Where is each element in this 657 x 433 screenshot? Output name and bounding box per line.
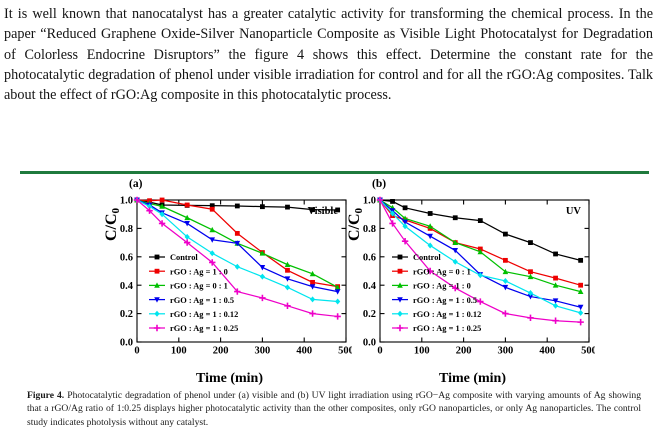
x-tick-label: 300	[498, 346, 514, 357]
series-marker	[428, 211, 433, 216]
series-marker	[528, 240, 533, 245]
series-marker	[310, 207, 315, 212]
y-tick-label: 0.2	[120, 309, 133, 320]
series-marker	[285, 205, 290, 210]
chart-panel-b: (b) C/C0 01002003004005000.00.20.40.60.8…	[350, 178, 650, 390]
question-block: It is well known that nanocatalyst has a…	[4, 4, 653, 105]
series-marker	[403, 205, 408, 210]
y-tick-label: 0.6	[363, 252, 376, 263]
legend-label: rGO : Ag = 1 : 0.5	[413, 296, 477, 305]
series-marker	[235, 231, 240, 236]
x-tick-label: 0	[134, 346, 139, 357]
chart-svg-b: 01002003004005000.00.20.40.60.81.0UVCont…	[350, 193, 595, 368]
series-marker	[260, 204, 265, 209]
series-marker	[578, 283, 583, 288]
plot-area-b: C/C0 01002003004005000.00.20.40.60.81.0U…	[350, 193, 595, 368]
series-marker	[578, 258, 583, 263]
legend-marker	[398, 269, 403, 274]
plot-area-a: C/C0 01002003004005000.00.20.40.60.81.0V…	[107, 193, 352, 368]
series-marker	[553, 252, 558, 257]
chart-annotation: UV	[566, 206, 582, 217]
series-marker	[160, 198, 165, 203]
legend-label: Control	[170, 253, 198, 262]
y-tick-label: 0.8	[363, 224, 376, 235]
chart-svg-a: 01002003004005000.00.20.40.60.81.0Visibl…	[107, 193, 352, 368]
legend-label: rGO : Ag = 1 : 0	[170, 267, 228, 276]
x-tick-label: 0	[377, 346, 382, 357]
legend-label: rGO : Ag = 0 : 1	[413, 267, 471, 276]
series-marker	[210, 207, 215, 212]
figure-block: (a) C/C0 01002003004005000.00.20.40.60.8…	[0, 166, 657, 433]
series-marker	[185, 203, 190, 208]
y-tick-label: 0.4	[363, 281, 377, 292]
x-tick-label: 400	[539, 346, 555, 357]
y-tick-label: 0.8	[120, 224, 133, 235]
x-axis-label-b: Time (min)	[350, 371, 595, 387]
series-marker	[478, 218, 483, 223]
plot-frame	[137, 200, 346, 342]
question-paragraph: It is well known that nanocatalyst has a…	[4, 4, 653, 105]
x-tick-label: 300	[255, 346, 271, 357]
x-tick-label: 400	[296, 346, 312, 357]
y-tick-label: 0.4	[120, 281, 134, 292]
series-marker	[335, 208, 340, 213]
y-tick-label: 0.0	[120, 338, 133, 349]
x-tick-label: 200	[213, 346, 229, 357]
legend-label: rGO : Ag = 1 : 0	[413, 282, 471, 291]
y-tick-label: 0.0	[363, 338, 376, 349]
legend-label: rGO : Ag = 0 : 1	[170, 282, 228, 291]
legend-marker	[155, 269, 160, 274]
y-tick-label: 0.2	[363, 309, 376, 320]
series-marker	[390, 199, 395, 204]
y-tick-label: 1.0	[363, 196, 376, 207]
series-marker	[528, 269, 533, 274]
legend-marker	[155, 255, 160, 260]
panel-label-b: (b)	[372, 178, 386, 190]
legend-label: rGO : Ag = 1 : 0.25	[413, 324, 481, 333]
figure-caption: Figure 4. Photocatalytic degradation of …	[27, 389, 641, 429]
y-tick-label: 0.6	[120, 252, 133, 263]
figure-caption-label: Figure 4.	[27, 390, 64, 401]
x-axis-label-a: Time (min)	[107, 371, 352, 387]
legend-label: Control	[413, 253, 441, 262]
legend-label: rGO : Ag = 1 : 0.12	[170, 310, 238, 319]
series-marker	[503, 258, 508, 263]
x-tick-label: 200	[456, 346, 472, 357]
panel-label-a: (a)	[129, 178, 142, 190]
y-tick-label: 1.0	[120, 196, 133, 207]
x-tick-label: 500	[581, 346, 595, 357]
legend-marker	[398, 255, 403, 260]
series-marker	[235, 204, 240, 209]
series-marker	[285, 268, 290, 273]
figure-caption-body: Photocatalytic degradation of phenol und…	[27, 390, 641, 428]
x-tick-label: 100	[414, 346, 430, 357]
series-marker	[310, 280, 315, 285]
series-marker	[503, 232, 508, 237]
legend-label: rGO : Ag = 1 : 0.5	[170, 296, 234, 305]
legend-label: rGO : Ag = 1 : 0.12	[413, 310, 481, 319]
series-marker	[453, 215, 458, 220]
legend-label: rGO : Ag = 1 : 0.25	[170, 324, 238, 333]
series-marker	[553, 276, 558, 281]
figure-top-rule	[20, 171, 649, 174]
x-tick-label: 100	[171, 346, 187, 357]
